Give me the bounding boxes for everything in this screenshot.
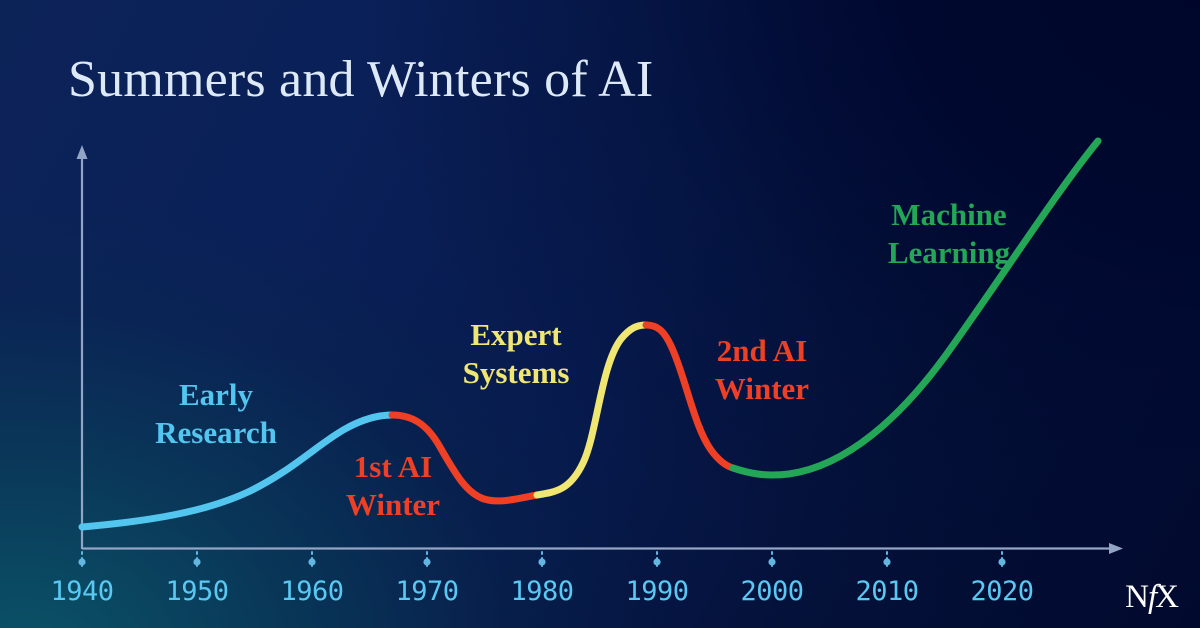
chart-plot (0, 0, 1200, 628)
annotation-first-ai-winter: 1st AI Winter (346, 448, 440, 524)
x-tick-label-1940: 1940 (50, 576, 113, 607)
x-tick-label-1970: 1970 (395, 576, 458, 607)
annotation-second-ai-winter: 2nd AI Winter (715, 332, 809, 408)
x-tick-label-1990: 1990 (625, 576, 688, 607)
y-axis-arrow-icon (77, 145, 88, 159)
x-tick-label-1960: 1960 (280, 576, 343, 607)
curve-segment-machine-learning (733, 141, 1098, 475)
annotation-machine-learning: Machine Learning (888, 196, 1010, 272)
annotation-expert-systems: Expert Systems (463, 316, 570, 392)
x-axis-arrow-icon (1109, 543, 1123, 554)
nfx-logo: NfX (1125, 581, 1178, 614)
x-tick-label-2000: 2000 (740, 576, 803, 607)
x-axis (82, 543, 1123, 554)
y-axis (77, 145, 88, 549)
annotation-early-research: Early Research (155, 376, 277, 452)
logo-letter-x: X (1155, 579, 1178, 615)
x-tick-label-1980: 1980 (510, 576, 573, 607)
x-tick-label-1950: 1950 (165, 576, 228, 607)
logo-letter-n: N (1125, 579, 1148, 615)
x-tick-label-2020: 2020 (970, 576, 1033, 607)
infographic-canvas: Summers and Winters of AI (0, 0, 1200, 628)
x-tick-label-2010: 2010 (855, 576, 918, 607)
x-axis-tick-dots (78, 558, 1005, 565)
